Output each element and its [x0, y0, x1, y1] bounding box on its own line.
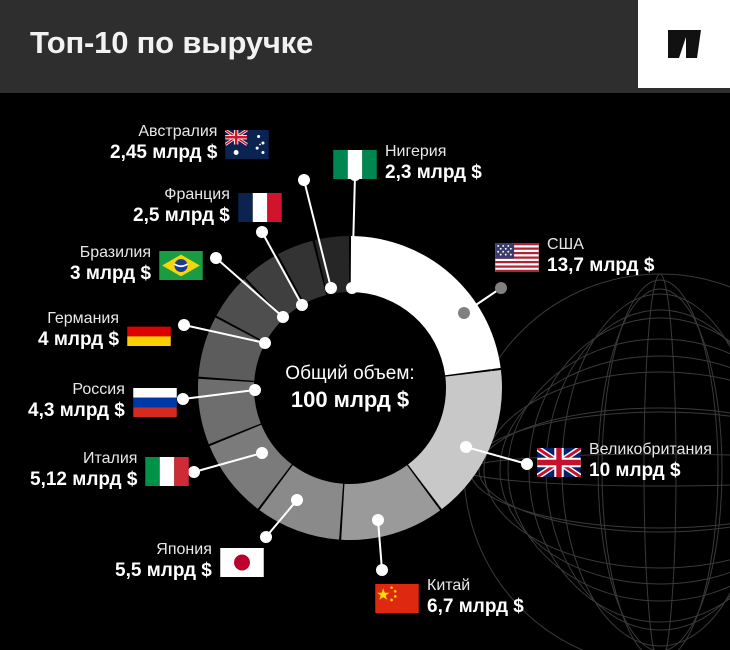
label-brazil-text: Бразилия 3 млрд $ [70, 244, 151, 286]
label-russia-country: Россия [72, 381, 124, 399]
flag-germany [127, 317, 171, 346]
label-italy-amount: 5,12 млрд $ [30, 468, 137, 492]
label-japan-amount: 5,5 млрд $ [115, 559, 212, 583]
flag-uk [537, 448, 581, 477]
label-germany-text: Германия 4 млрд $ [38, 310, 119, 352]
donut-chart-svg [195, 233, 505, 543]
label-usa-amount: 13,7 млрд $ [547, 254, 654, 278]
label-usa-country: США [547, 236, 584, 254]
label-china-country: Китай [427, 577, 470, 595]
label-australia-text: Австралия 2,45 млрд $ [110, 123, 217, 165]
flag-usa [495, 243, 539, 272]
label-uk[interactable]: Великобритания 10 млрд $ [537, 441, 712, 483]
label-nigeria-text: Нигерия 2,3 млрд $ [385, 143, 482, 185]
label-brazil[interactable]: Бразилия 3 млрд $ [70, 244, 203, 286]
label-uk-text: Великобритания 10 млрд $ [589, 441, 712, 483]
label-france-text: Франция 2,5 млрд $ [133, 186, 230, 228]
label-australia-amount: 2,45 млрд $ [110, 141, 217, 165]
label-nigeria[interactable]: Нигерия 2,3 млрд $ [333, 143, 482, 185]
label-japan-country: Япония [156, 541, 212, 559]
flag-nigeria [333, 150, 377, 179]
label-china[interactable]: Китай 6,7 млрд $ [375, 577, 524, 619]
label-nigeria-country: Нигерия [385, 143, 446, 161]
label-brazil-country: Бразилия [80, 244, 151, 262]
label-france[interactable]: Франция 2,5 млрд $ [133, 186, 282, 228]
label-japan-text: Япония 5,5 млрд $ [115, 541, 212, 583]
donut-chart: Общий объем: 100 млрд $ [195, 233, 505, 543]
label-japan[interactable]: Япония 5,5 млрд $ [115, 541, 264, 583]
page-title: Топ-10 по выручке [30, 25, 313, 61]
donut-segment[interactable] [351, 236, 501, 375]
label-brazil-amount: 3 млрд $ [70, 262, 151, 286]
label-china-amount: 6,7 млрд $ [427, 595, 524, 619]
brand-logo-icon [638, 0, 730, 88]
label-germany-country: Германия [47, 310, 119, 328]
infographic-canvas: Топ-10 по выручке Общий объем: 100 млрд … [0, 0, 730, 650]
flag-italy [145, 457, 189, 486]
label-germany[interactable]: Германия 4 млрд $ [38, 310, 171, 352]
label-germany-amount: 4 млрд $ [38, 328, 119, 352]
flag-russia [133, 388, 177, 417]
brand-logo[interactable] [638, 0, 730, 88]
label-france-amount: 2,5 млрд $ [133, 204, 230, 228]
label-australia[interactable]: Австралия 2,45 млрд $ [110, 123, 269, 165]
label-russia-amount: 4,3 млрд $ [28, 399, 125, 423]
label-uk-amount: 10 млрд $ [589, 459, 681, 483]
flag-france [238, 193, 282, 222]
flag-australia [225, 130, 269, 159]
label-france-country: Франция [164, 186, 230, 204]
label-china-text: Китай 6,7 млрд $ [427, 577, 524, 619]
label-nigeria-amount: 2,3 млрд $ [385, 161, 482, 185]
flag-china [375, 584, 419, 613]
label-usa[interactable]: США 13,7 млрд $ [495, 236, 654, 278]
label-russia[interactable]: Россия 4,3 млрд $ [28, 381, 177, 423]
label-italy-country: Италия [83, 450, 137, 468]
label-italy-text: Италия 5,12 млрд $ [30, 450, 137, 492]
label-russia-text: Россия 4,3 млрд $ [28, 381, 125, 423]
flag-japan [220, 548, 264, 577]
label-italy[interactable]: Италия 5,12 млрд $ [30, 450, 189, 492]
label-uk-country: Великобритания [589, 441, 712, 459]
label-australia-country: Австралия [138, 123, 217, 141]
label-usa-text: США 13,7 млрд $ [547, 236, 654, 278]
flag-brazil [159, 251, 203, 280]
